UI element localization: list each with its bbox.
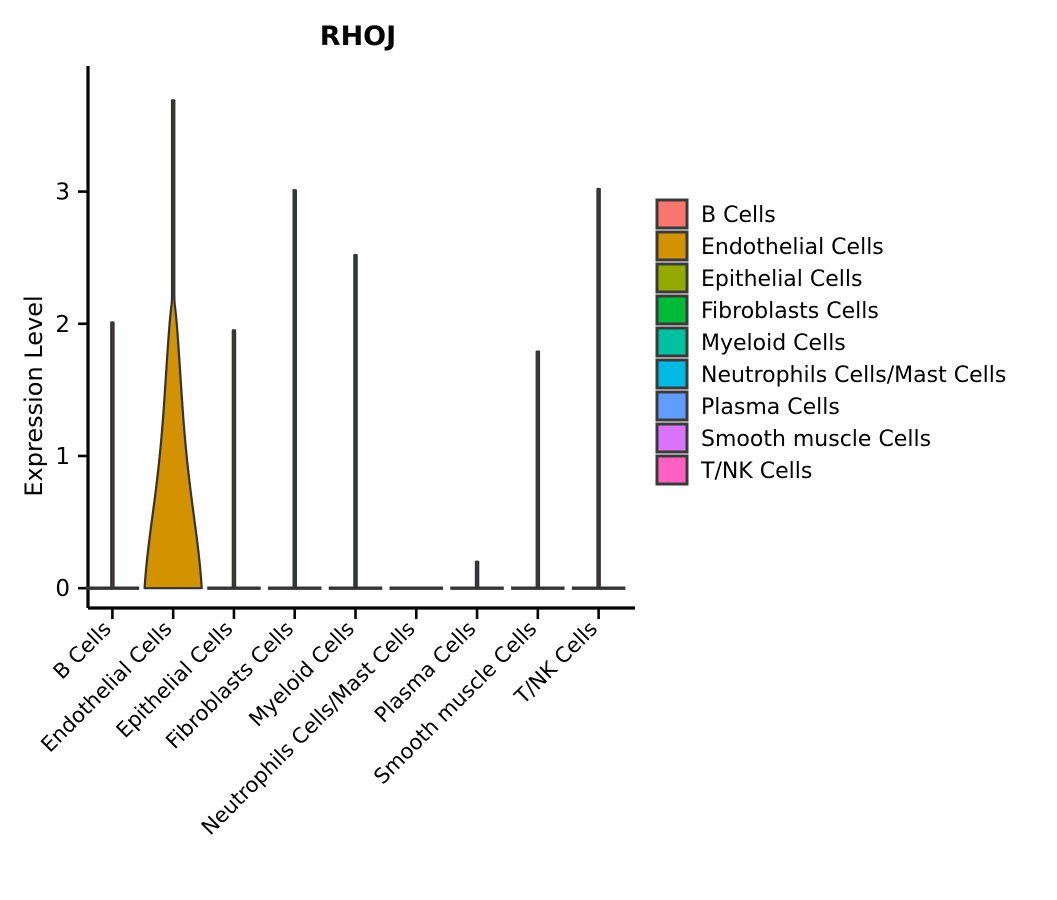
legend-swatch-t-nk-cells[interactable] xyxy=(657,456,687,484)
violin-fibroblasts-cells[interactable] xyxy=(294,190,296,588)
legend-swatch-smooth-muscle-cells[interactable] xyxy=(657,424,687,452)
legend-label[interactable]: Endothelial Cells xyxy=(701,235,884,260)
y-axis-title: Expression Level xyxy=(20,295,48,496)
violin-plot-figure: RHOJ Expression Level 0123 B CellsEndoth… xyxy=(0,0,1057,900)
violin-t-nk-cells[interactable] xyxy=(597,189,599,588)
legend-label[interactable]: Myeloid Cells xyxy=(701,331,846,356)
legend-swatch-epithelial-cells[interactable] xyxy=(657,264,687,292)
chart-canvas: RHOJ Expression Level 0123 B CellsEndoth… xyxy=(0,0,1057,900)
violin-myeloid-cells[interactable] xyxy=(354,255,356,588)
y-tick-label: 0 xyxy=(55,576,70,602)
y-tick-label: 2 xyxy=(55,312,70,338)
violin-plasma-cells[interactable] xyxy=(476,562,478,588)
violin-b-cells[interactable] xyxy=(111,322,113,588)
legend-label[interactable]: Fibroblasts Cells xyxy=(701,299,879,324)
legend-swatch-plasma-cells[interactable] xyxy=(657,392,687,420)
violin-smooth-muscle-cells[interactable] xyxy=(537,352,539,589)
legend-label[interactable]: Epithelial Cells xyxy=(701,267,862,292)
legend-swatch-endothelial-cells[interactable] xyxy=(657,232,687,260)
legend-label[interactable]: Smooth muscle Cells xyxy=(701,427,931,452)
legend-label[interactable]: Plasma Cells xyxy=(701,395,840,420)
page-title: RHOJ xyxy=(320,21,396,52)
y-tick-label: 3 xyxy=(55,180,70,206)
legend-label[interactable]: T/NK Cells xyxy=(700,459,812,484)
violin-epithelial-cells[interactable] xyxy=(233,330,235,588)
legend-label[interactable]: Neutrophils Cells/Mast Cells xyxy=(701,363,1006,388)
y-tick-label: 1 xyxy=(55,444,70,470)
legend-swatch-neutrophils-cells-mast-cells[interactable] xyxy=(657,360,687,388)
legend-swatch-fibroblasts-cells[interactable] xyxy=(657,296,687,324)
legend-label[interactable]: B Cells xyxy=(701,203,776,228)
legend-swatch-myeloid-cells[interactable] xyxy=(657,328,687,356)
legend-swatch-b-cells[interactable] xyxy=(657,200,687,228)
